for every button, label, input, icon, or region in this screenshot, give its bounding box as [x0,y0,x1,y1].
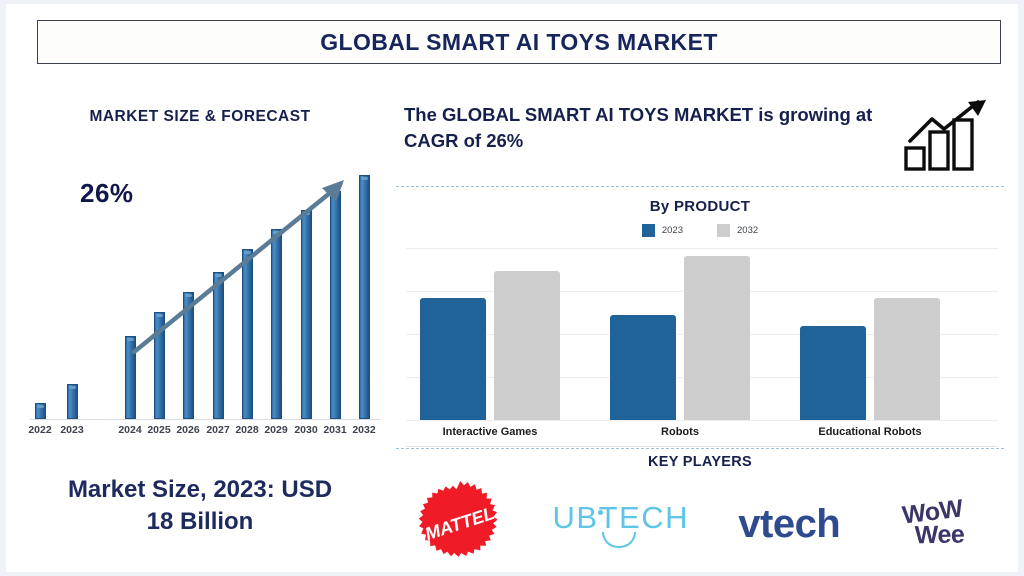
upward-trend-arrow-icon [22,140,382,420]
year-label: 2029 [264,424,287,436]
chart-baseline [30,419,380,420]
market-size-bar [330,191,341,419]
ubtech-logo: UBTECH [546,496,696,552]
product-bar-2032 [684,256,750,420]
category-label: Robots [661,426,699,438]
mattel-logo: MATTEL [417,481,503,567]
market-size-bar [154,312,165,419]
page-title-box: GLOBAL SMART AI TOYS MARKET [37,20,1001,64]
key-players-row: MATTEL UBTECH vtech WoW Wee [396,476,1004,572]
gridline [406,420,998,421]
legend-label: 2023 [662,225,683,236]
market-size-bar [183,292,194,419]
category-label: Interactive Games [443,426,538,438]
wowwee-wordmark-line2: Wee [915,522,965,548]
ubtech-dot-icon [598,510,603,515]
market-size-bar-chart: 26% [22,140,382,420]
market-size-bar [35,403,46,419]
product-chart-axis [406,446,998,447]
market-size-figure-line1: Market Size, 2023: USD [68,476,332,503]
year-label: 2022 [28,424,51,436]
wowwee-logo: WoW Wee [880,485,985,564]
market-size-heading: MARKET SIZE & FORECAST [14,108,386,126]
market-size-bar [125,336,136,419]
page-title: GLOBAL SMART AI TOYS MARKET [320,29,718,56]
legend-label: 2032 [737,225,758,236]
market-size-bar [67,384,78,419]
market-size-bar [271,229,282,419]
year-label: 2024 [118,424,141,436]
product-bar-2023 [420,298,486,420]
product-bar-chart [406,248,998,420]
product-bar-2032 [874,298,940,420]
vtech-wordmark: vtech [738,502,840,547]
market-size-bar [213,272,224,419]
product-chart-legend: 20232032 [396,224,1004,237]
headline-block: The GLOBAL SMART AI TOYS MARKET is growi… [404,98,1004,176]
year-label: 2032 [352,424,375,436]
year-label: 2027 [206,424,229,436]
key-players-title: KEY PLAYERS [396,454,1004,470]
legend-item-2032[interactable]: 2032 [717,224,758,237]
by-product-title: By PRODUCT [396,198,1004,215]
key-player-wowwee[interactable]: WoW Wee [883,478,983,570]
product-bar-2023 [610,315,676,420]
ubtech-smile-icon [602,532,636,548]
cagr-annotation: 26% [80,178,134,209]
key-player-ubtech[interactable]: UBTECH [546,478,696,570]
growth-bar-chart-arrow-icon [902,98,994,172]
market-size-bar [301,210,312,419]
market-size-figure-line2: 18 Billion [147,508,254,535]
legend-swatch-icon [642,224,655,237]
infographic-canvas: GLOBAL SMART AI TOYS MARKET MARKET SIZE … [6,4,1018,572]
year-label: 2031 [323,424,346,436]
ubtech-wordmark: UBTECH [546,500,696,536]
year-label: 2028 [235,424,258,436]
market-size-year-axis: 2022202320242025202620272028202920302031… [22,424,374,444]
year-label: 2023 [60,424,83,436]
key-player-vtech[interactable]: vtech [738,478,840,570]
legend-item-2023[interactable]: 2023 [642,224,683,237]
product-bar-2023 [800,326,866,420]
right-panel: The GLOBAL SMART AI TOYS MARKET is growi… [396,90,1010,576]
year-label: 2030 [294,424,317,436]
market-headline: The GLOBAL SMART AI TOYS MARKET is growi… [404,102,884,155]
legend-swatch-icon [717,224,730,237]
key-player-mattel[interactable]: MATTEL [417,478,503,570]
market-size-figure: Market Size, 2023: USD 18 Billion [14,474,386,537]
market-size-forecast-panel: MARKET SIZE & FORECAST 26% 2022202320242… [14,96,386,576]
year-label: 2025 [147,424,170,436]
market-size-bar [359,175,370,419]
divider-bottom [396,448,1004,449]
year-label: 2026 [176,424,199,436]
product-category-labels: Interactive GamesRobotsEducational Robot… [406,426,998,444]
market-size-bar [242,249,253,419]
product-bar-2032 [494,271,560,420]
category-label: Educational Robots [818,426,921,438]
divider-top [396,186,1004,187]
gridline [406,248,998,249]
